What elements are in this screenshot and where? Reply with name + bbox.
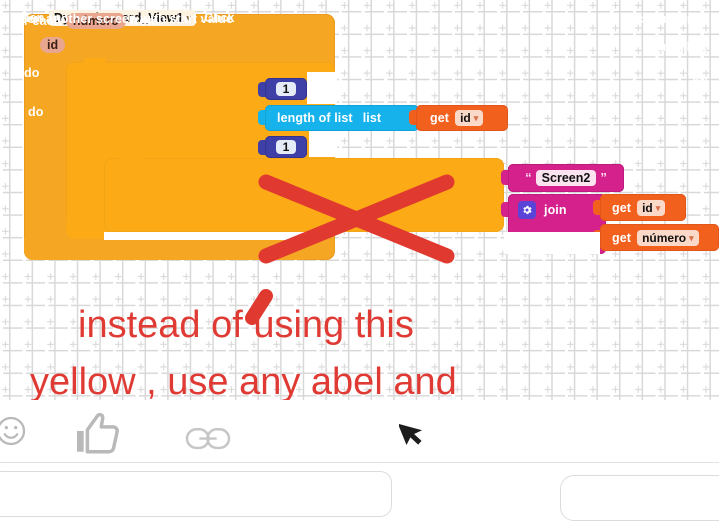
block-open-another-screen[interactable] bbox=[104, 158, 504, 232]
link-icon[interactable] bbox=[185, 424, 231, 459]
get-variable-dropdown[interactable]: id▾ bbox=[637, 200, 665, 216]
annotation-line-2: yellow , use any abel and bbox=[30, 363, 457, 401]
join-label: join bbox=[544, 203, 567, 217]
annotation-line-1: instead of using this bbox=[78, 306, 414, 344]
block-get-id-list[interactable]: get id▾ bbox=[416, 105, 508, 131]
start-value-socket-label: startValue bbox=[644, 38, 705, 56]
event-param-id[interactable]: id bbox=[40, 36, 65, 54]
length-of-list-label: length of list bbox=[277, 111, 353, 125]
open-another-screen-notch bbox=[120, 154, 142, 161]
block-number-from[interactable]: 1 bbox=[265, 78, 307, 100]
workspace-gap bbox=[104, 232, 309, 240]
comment-input-field[interactable] bbox=[0, 471, 392, 517]
when-do-label: do bbox=[24, 64, 39, 82]
open-another-screen-label: open another screen with start value bbox=[12, 10, 233, 28]
get-keyword: get bbox=[612, 231, 631, 245]
chevron-down-icon[interactable]: ▾ bbox=[689, 233, 694, 243]
text-value-field[interactable]: Screen2 bbox=[536, 170, 597, 186]
get-keyword: get bbox=[612, 201, 631, 215]
workspace-gap bbox=[307, 72, 337, 104]
reaction-bar bbox=[0, 400, 719, 462]
get-variable-name: número bbox=[642, 231, 686, 245]
bottom-bar bbox=[0, 462, 719, 503]
screen-name-socket-label: screenName bbox=[630, 10, 705, 28]
workspace-gap bbox=[309, 131, 337, 157]
block-when-skirt bbox=[24, 238, 309, 260]
workspace-gap bbox=[504, 232, 600, 254]
chevron-down-icon[interactable]: ▾ bbox=[656, 203, 661, 213]
chevron-down-icon[interactable]: ▾ bbox=[474, 113, 479, 123]
mouse-pointer bbox=[399, 418, 427, 448]
smiley-icon[interactable] bbox=[0, 414, 28, 453]
event-param-label: id bbox=[40, 37, 65, 53]
gear-icon[interactable] bbox=[518, 201, 536, 219]
action-button-area[interactable] bbox=[560, 475, 719, 521]
by-label: by bbox=[692, 73, 707, 91]
get-variable-dropdown[interactable]: id▾ bbox=[455, 110, 483, 126]
get-variable-name: id bbox=[460, 111, 471, 125]
block-length-of-list[interactable]: length of list list bbox=[265, 105, 419, 131]
get-keyword: get bbox=[430, 111, 449, 125]
block-get-id-join[interactable]: get id▾ bbox=[600, 194, 686, 221]
for-each-top-notch bbox=[84, 58, 106, 65]
get-variable-name: id bbox=[642, 201, 653, 215]
block-get-numero[interactable]: get número▾ bbox=[600, 224, 719, 251]
thumbs-up-icon[interactable] bbox=[72, 408, 124, 465]
for-each-do-label: do bbox=[28, 103, 43, 121]
list-socket-label: list bbox=[363, 111, 381, 125]
get-variable-dropdown[interactable]: número▾ bbox=[637, 230, 699, 246]
block-number-by[interactable]: 1 bbox=[265, 136, 307, 158]
block-text-screen2[interactable]: “ Screen2 ” bbox=[508, 164, 624, 192]
